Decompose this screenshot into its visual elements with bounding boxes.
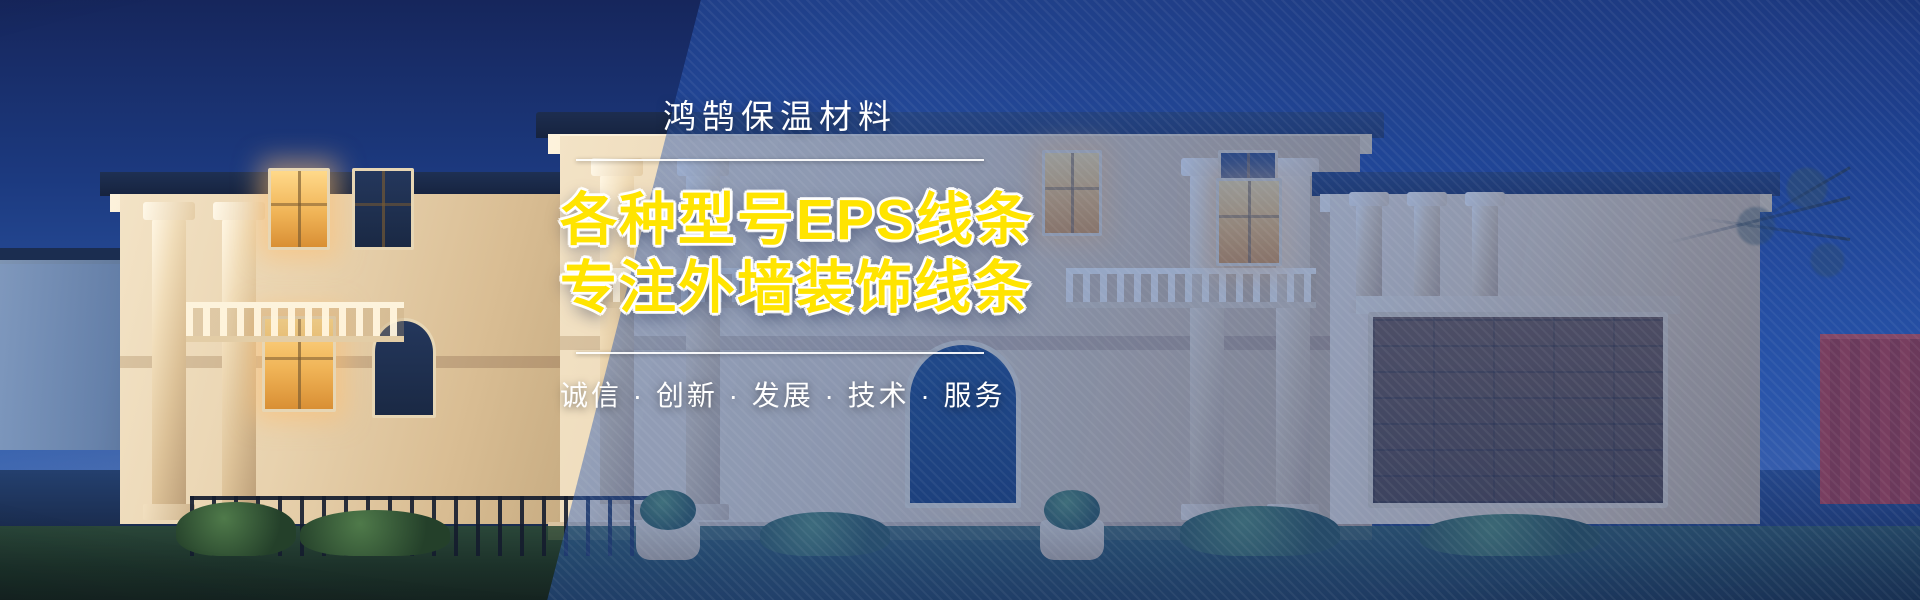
brand-subtitle: 鸿鹄保温材料 — [560, 96, 1000, 137]
window-mullion — [265, 357, 333, 360]
tagline: 诚信 · 创新 · 发展 · 技术 · 服务 — [560, 374, 1000, 414]
shrub-2 — [300, 510, 450, 556]
column-left-2 — [222, 218, 256, 504]
divider-top — [576, 159, 984, 161]
balustrade-left — [186, 302, 404, 342]
window-mullion — [355, 203, 411, 206]
banner-copy: 鸿鹄保温材料 各种型号EPS线条 专注外墙装饰线条 诚信 · 创新 · 发展 ·… — [560, 96, 1000, 414]
headline-line-1: 各种型号EPS线条 — [560, 187, 1000, 254]
shrub-1 — [176, 502, 296, 556]
window-left-upper-2 — [352, 168, 414, 250]
column-left-1 — [152, 218, 186, 504]
window-mullion — [298, 171, 301, 247]
headline-line-2: 专注外墙装饰线条 — [560, 255, 1000, 322]
tagline-block: 诚信 · 创新 · 发展 · 技术 · 服务 — [560, 352, 1000, 414]
headline: 各种型号EPS线条 专注外墙装饰线条 — [560, 187, 1000, 322]
divider-bottom — [576, 352, 984, 354]
left-wing-band — [120, 356, 590, 368]
hero-banner: 鸿鹄保温材料 各种型号EPS线条 专注外墙装饰线条 诚信 · 创新 · 发展 ·… — [0, 0, 1920, 600]
window-mullion — [382, 171, 385, 247]
window-left-upper-1 — [268, 168, 330, 250]
window-mullion — [271, 203, 327, 206]
